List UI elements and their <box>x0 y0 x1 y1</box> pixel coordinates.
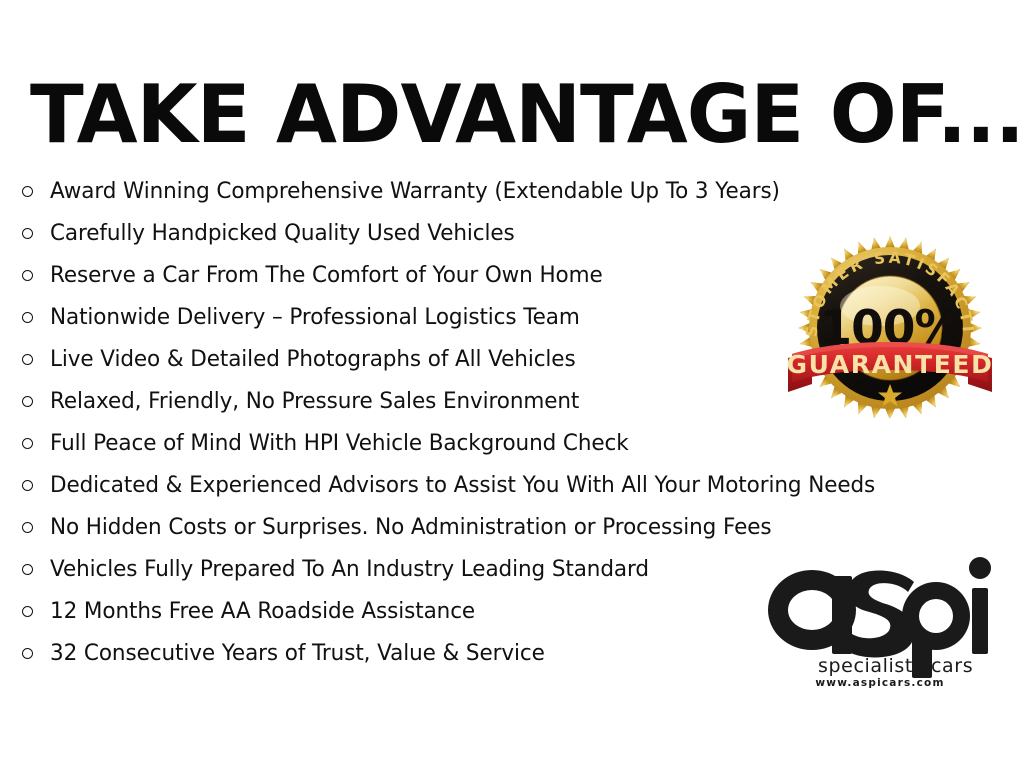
logo-tagline-block <box>914 656 927 674</box>
customer-satisfaction-seal-icon: CUSTOMER SATISFACTION 100% GUARANTEED <box>782 232 998 418</box>
bullet-circle-icon <box>22 186 33 197</box>
logo-tagline-left: specialist <box>818 655 913 677</box>
list-item-label: Live Video & Detailed Photographs of All… <box>50 346 576 372</box>
bullet-circle-icon <box>22 606 33 617</box>
bullet-circle-icon <box>22 438 33 449</box>
list-item: Dedicated & Experienced Advisors to Assi… <box>14 464 974 506</box>
bullet-circle-icon <box>22 648 33 659</box>
list-item: No Hidden Costs or Surprises. No Adminis… <box>14 506 974 548</box>
bullet-circle-icon <box>22 228 33 239</box>
logo-website: www.aspicars.com <box>815 677 944 688</box>
bullet-circle-icon <box>22 564 33 575</box>
list-item-label: Nationwide Delivery – Professional Logis… <box>50 304 580 330</box>
list-item-label: No Hidden Costs or Surprises. No Adminis… <box>50 514 771 540</box>
slide-canvas: TAKE ADVANTAGE OF... Award Winning Compr… <box>0 0 1024 768</box>
bullet-circle-icon <box>22 396 33 407</box>
logo-tagline-right: cars <box>931 655 973 677</box>
list-item: Award Winning Comprehensive Warranty (Ex… <box>14 170 974 212</box>
list-item-label: Dedicated & Experienced Advisors to Assi… <box>50 472 875 498</box>
logo-letter-a <box>768 570 856 654</box>
list-item-label: Full Peace of Mind With HPI Vehicle Back… <box>50 430 629 456</box>
list-item-label: Reserve a Car From The Comfort of Your O… <box>50 262 603 288</box>
list-item-label: 12 Months Free AA Roadside Assistance <box>50 598 475 624</box>
page-title: TAKE ADVANTAGE OF... <box>30 74 976 156</box>
bullet-circle-icon <box>22 522 33 533</box>
bullet-circle-icon <box>22 480 33 491</box>
logo-letter-i <box>969 557 991 654</box>
bullet-circle-icon <box>22 270 33 281</box>
bullet-circle-icon <box>22 312 33 323</box>
list-item-label: Award Winning Comprehensive Warranty (Ex… <box>50 178 780 204</box>
list-item-label: Carefully Handpicked Quality Used Vehicl… <box>50 220 515 246</box>
ribbon-text: GUARANTEED <box>787 350 994 379</box>
bullet-circle-icon <box>22 354 33 365</box>
list-item-label: Relaxed, Friendly, No Pressure Sales Env… <box>50 388 579 414</box>
list-item: Full Peace of Mind With HPI Vehicle Back… <box>14 422 974 464</box>
list-item-label: 32 Consecutive Years of Trust, Value & S… <box>50 640 545 666</box>
list-item-label: Vehicles Fully Prepared To An Industry L… <box>50 556 649 582</box>
aspi-specialist-cars-logo-icon: specialist cars www.aspicars.com <box>766 548 994 688</box>
